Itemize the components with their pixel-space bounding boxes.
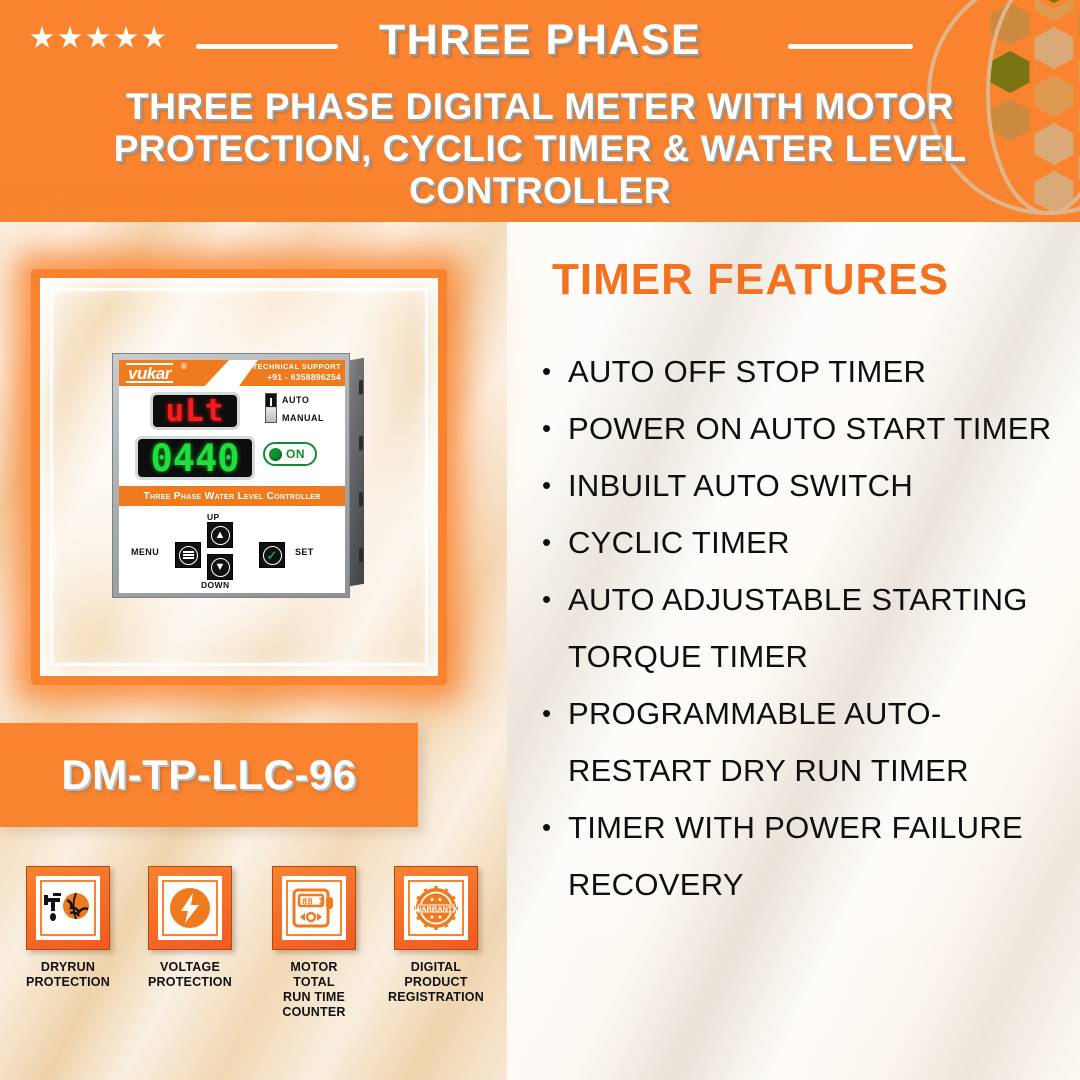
model-number: DM-TP-LLC-96 <box>61 751 356 799</box>
header-title: THREE PHASE <box>0 16 1080 65</box>
features-panel: TIMER FEATURES AUTO OFF STOP TIMER POWER… <box>520 255 1065 913</box>
benefit-tile <box>148 866 232 950</box>
benefits-row: DRYRUNPROTECTION VOLTAGEPROTECTION 88 1 <box>12 866 502 1076</box>
device-display-bottom: 0440 <box>135 436 255 480</box>
on-status-indicator: ON <box>263 442 317 466</box>
up-button[interactable]: ▲ <box>207 522 233 548</box>
warranty-badge-icon: WARRANTY <box>413 885 459 931</box>
device-keypad: UP DOWN MENU SET ▲ ▼ ✓ <box>119 512 345 592</box>
chevron-up-icon: ▲ <box>211 526 230 545</box>
device-side-tab <box>359 380 363 395</box>
benefit-caption: VOLTAGEPROTECTION <box>140 960 240 990</box>
support-label: TECHNICAL SUPPORT <box>239 362 341 371</box>
feature-item: CYCLIC TIMER <box>542 514 1065 571</box>
up-key-label: UP <box>207 512 220 522</box>
benefit-icon-frame <box>158 876 222 940</box>
benefit-item: 88 1 MOTORTOTALRUN TIMECOUNTER <box>264 866 364 1020</box>
benefit-icon-frame: 88 1 <box>282 876 346 940</box>
display-bottom-value: 0440 <box>150 437 239 480</box>
auto-manual-switch[interactable] <box>265 393 277 423</box>
menu-key-label: MENU <box>131 547 159 557</box>
feature-item: INBUILT AUTO SWITCH <box>542 457 1065 514</box>
features-title: TIMER FEATURES <box>520 255 1065 305</box>
set-key-label: SET <box>295 547 314 557</box>
menu-button[interactable] <box>175 542 201 568</box>
benefit-tile: WARRANTY <box>394 866 478 950</box>
svg-text:WARRANTY: WARRANTY <box>415 905 458 914</box>
device-bezel: vukar ® TECHNICAL SUPPORT +91 - 63588962… <box>112 353 350 598</box>
model-banner: DM-TP-LLC-96 <box>0 723 418 827</box>
tap-globe-icon <box>43 888 93 928</box>
product-device-image: vukar ® TECHNICAL SUPPORT +91 - 63588962… <box>112 353 352 598</box>
benefit-caption: MOTORTOTALRUN TIMECOUNTER <box>264 960 364 1020</box>
device-display-top: uLt <box>150 392 240 430</box>
display-top-value: uLt <box>166 393 225 429</box>
device-side-tab <box>359 436 363 451</box>
benefit-caption: DRYRUNPROTECTION <box>18 960 118 990</box>
check-circle-icon: ✓ <box>263 546 282 565</box>
hamburger-icon <box>179 546 198 565</box>
svg-text:88 1: 88 1 <box>302 898 324 908</box>
device-brand-strip: vukar ® TECHNICAL SUPPORT +91 - 63588962… <box>119 360 345 386</box>
lightning-bolt-icon <box>168 886 212 930</box>
feature-item: PROGRAMMABLE AUTO-RESTART DRY RUN TIMER <box>542 685 1065 799</box>
down-button[interactable]: ▼ <box>207 554 233 580</box>
page-header: THREE PHASE THREE PHASE DIGITAL METER WI… <box>0 0 1080 222</box>
digital-meter-icon: 88 1 <box>290 886 338 930</box>
on-led-icon <box>269 448 282 461</box>
device-support-block: TECHNICAL SUPPORT +91 - 6358896254 <box>239 360 345 386</box>
benefit-caption: DIGITALPRODUCTREGISTRATION <box>386 960 486 1005</box>
registered-mark-icon: ® <box>181 362 187 371</box>
on-status-label: ON <box>286 447 305 461</box>
manual-label: MANUAL <box>282 413 324 423</box>
features-list: AUTO OFF STOP TIMER POWER ON AUTO START … <box>520 343 1065 913</box>
device-faceplate: vukar ® TECHNICAL SUPPORT +91 - 63588962… <box>119 360 345 593</box>
benefit-icon-frame: WARRANTY <box>404 876 468 940</box>
device-side-tab <box>359 548 363 563</box>
set-button[interactable]: ✓ <box>259 542 285 568</box>
vukar-logo: vukar <box>126 363 173 383</box>
feature-item: POWER ON AUTO START TIMER <box>542 400 1065 457</box>
device-panel-title: Three Phase Water Level Controller <box>119 486 345 506</box>
benefit-tile: 88 1 <box>272 866 356 950</box>
feature-item: TIMER WITH POWER FAILURE RECOVERY <box>542 799 1065 913</box>
feature-item: AUTO OFF STOP TIMER <box>542 343 1065 400</box>
benefit-item: DRYRUNPROTECTION <box>18 866 118 990</box>
benefit-item: WARRANTY DIGITALPRODUCTREGISTRATION <box>386 866 486 1005</box>
benefit-item: VOLTAGEPROTECTION <box>140 866 240 990</box>
feature-item: AUTO ADJUSTABLE STARTING TORQUE TIMER <box>542 571 1065 685</box>
chevron-down-icon: ▼ <box>211 558 230 577</box>
support-phone: +91 - 6358896254 <box>239 372 341 382</box>
device-side-tab <box>359 492 363 507</box>
down-key-label: DOWN <box>201 580 230 590</box>
benefit-tile <box>26 866 110 950</box>
auto-label: AUTO <box>282 395 309 405</box>
benefit-icon-frame <box>36 876 100 940</box>
header-subtitle: THREE PHASE DIGITAL METER WITH MOTOR PRO… <box>60 86 1020 212</box>
